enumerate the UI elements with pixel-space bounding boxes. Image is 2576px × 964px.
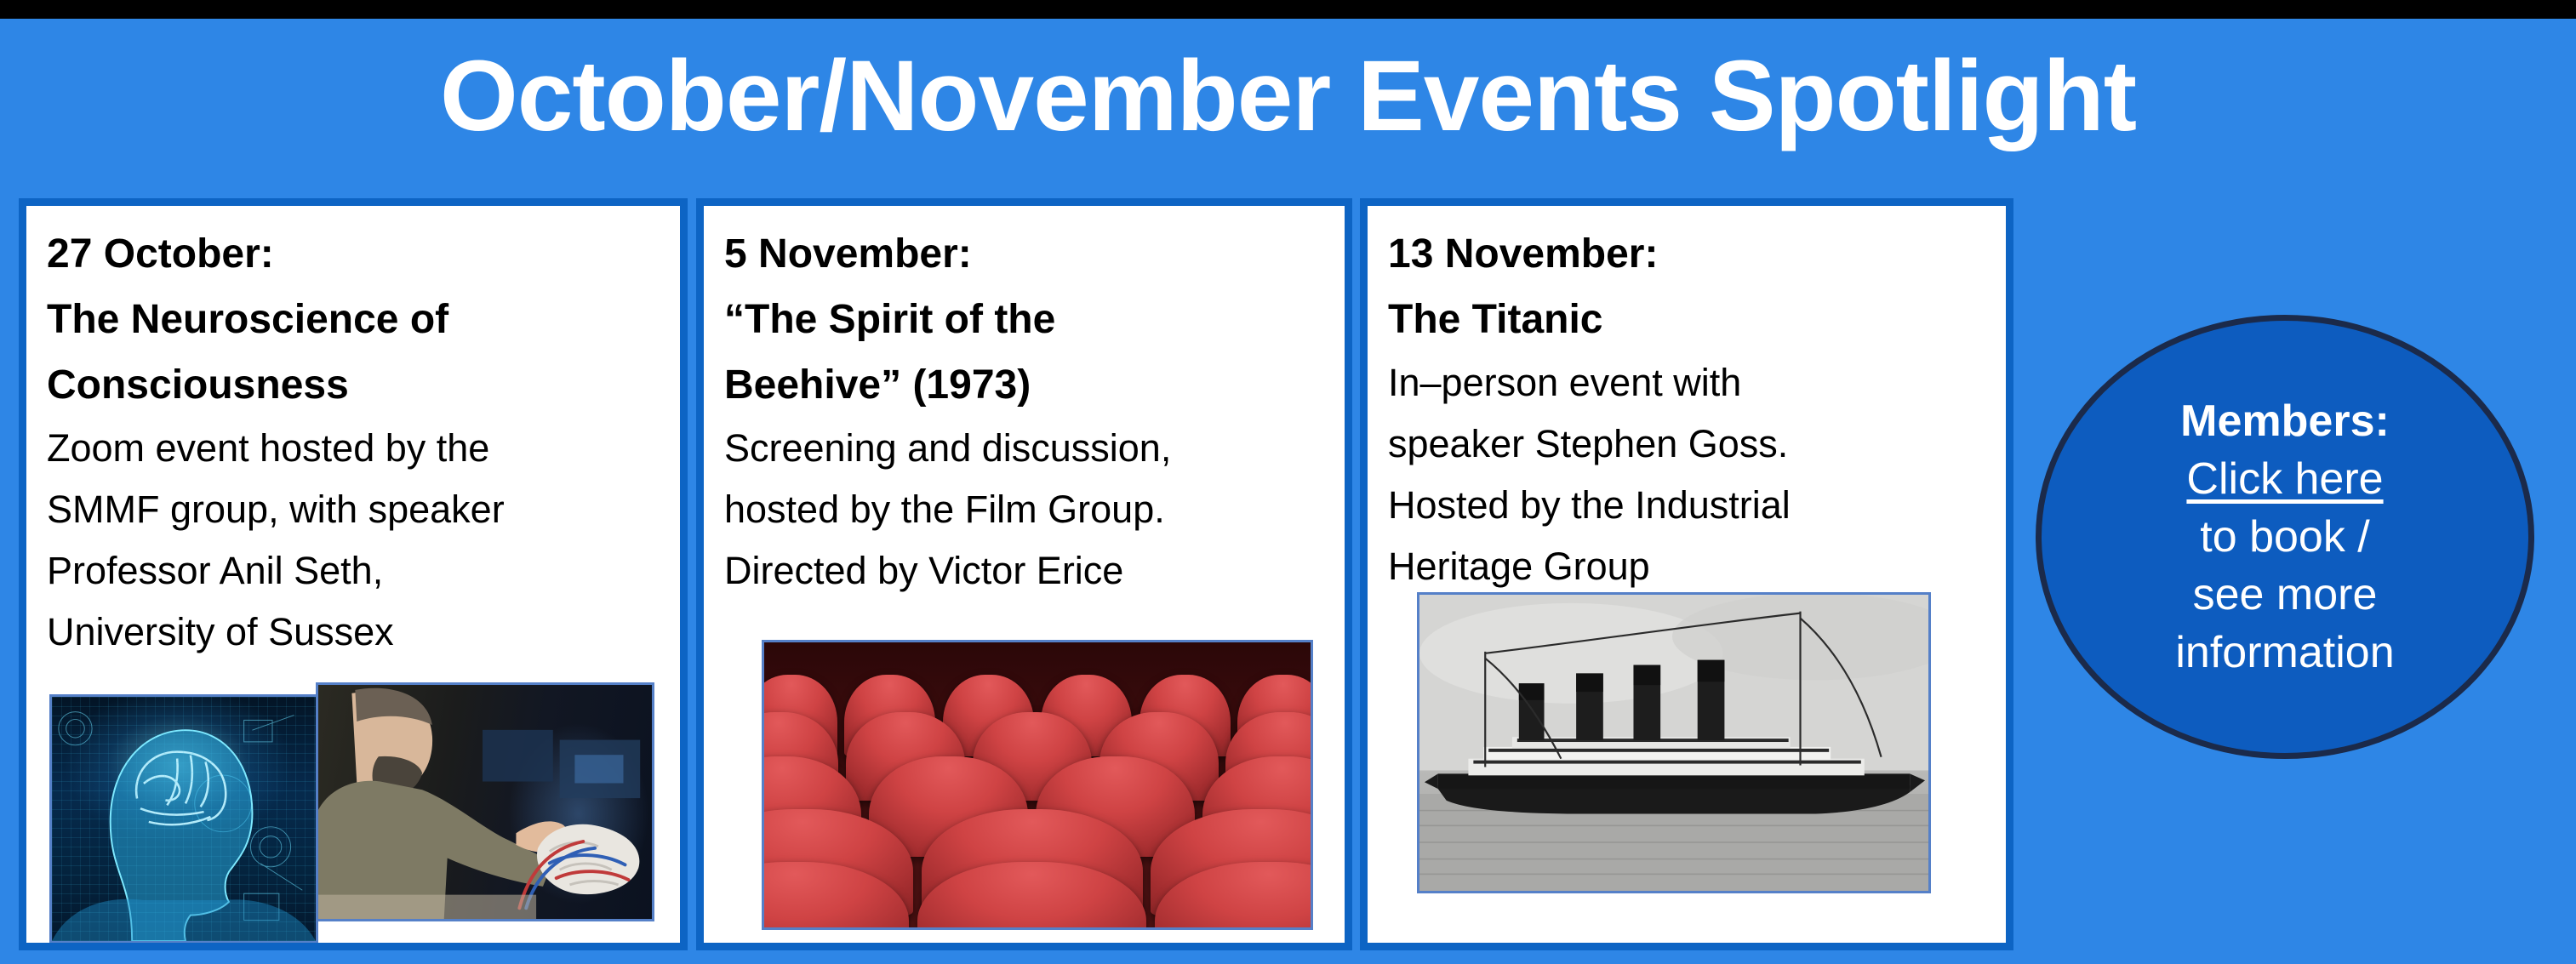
members-line-3: see more	[2193, 566, 2378, 624]
click-here-link[interactable]: Click here	[2186, 450, 2383, 508]
members-line-4: information	[2175, 624, 2394, 682]
event-card-neuroscience[interactable]: 27 October: The Neuroscience of Consciou…	[19, 198, 688, 950]
event-card-titanic[interactable]: 13 November: The Titanic In–person event…	[1360, 198, 2013, 950]
screenshot-root: October/November Events Spotlight 27 Oct…	[0, 0, 2576, 964]
card-content: 27 October: The Neuroscience of Consciou…	[26, 206, 680, 943]
card-content: 5 November: “The Spirit of the Beehive” …	[704, 206, 1345, 943]
members-booking-badge[interactable]: Members: Click here to book / see more i…	[2036, 315, 2534, 759]
researcher-with-brain-model-photo	[316, 682, 654, 921]
brain-network-illustration-image	[49, 694, 318, 944]
event-title: 13 November: The Titanic	[1388, 221, 1985, 352]
event-description: Zoom event hosted by the SMMF group, wit…	[47, 418, 660, 663]
page-title: October/November Events Spotlight	[0, 43, 2576, 150]
event-card-film-screening[interactable]: 5 November: “The Spirit of the Beehive” …	[696, 198, 1352, 950]
events-banner: October/November Events Spotlight 27 Oct…	[0, 19, 2576, 964]
titanic-ship-photo	[1417, 592, 1931, 893]
members-line-2: to book /	[2200, 508, 2369, 566]
event-description: In–person event with speaker Stephen Gos…	[1388, 352, 1985, 597]
event-title: 27 October: The Neuroscience of Consciou…	[47, 221, 660, 418]
event-title: 5 November: “The Spirit of the Beehive” …	[724, 221, 1324, 418]
cinema-seats-photo	[762, 640, 1313, 930]
members-heading: Members:	[2180, 392, 2390, 450]
event-description: Screening and discussion, hosted by the …	[724, 418, 1324, 602]
card-content: 13 November: The Titanic In–person event…	[1368, 206, 2006, 943]
